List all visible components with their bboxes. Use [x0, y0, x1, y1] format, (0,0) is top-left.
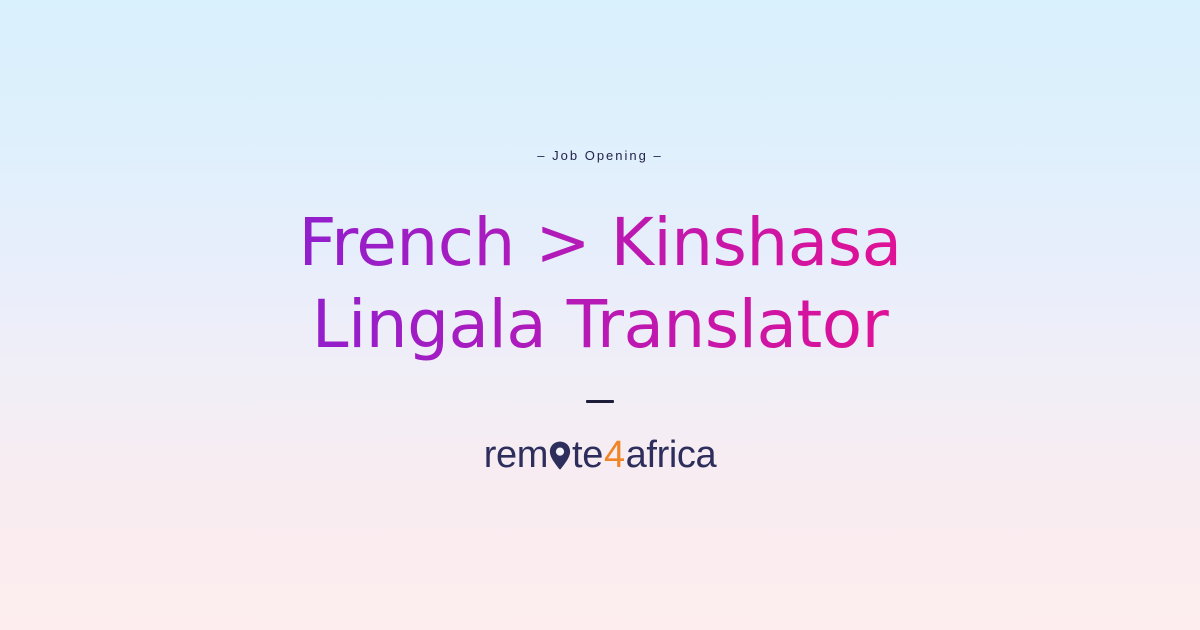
map-pin-icon: [549, 441, 571, 470]
brand-logo[interactable]: rem te 4 africa: [484, 433, 716, 477]
divider-rule: [586, 400, 614, 403]
job-opening-card: – Job Opening – French > Kinshasa Lingal…: [0, 0, 1200, 630]
headline-container: French > Kinshasa Lingala Translator: [250, 202, 950, 366]
page-title: French > Kinshasa Lingala Translator: [250, 202, 950, 366]
logo-text-prefix: rem: [484, 433, 548, 477]
logo-text-middle: te: [572, 433, 603, 477]
logo-text-four: 4: [603, 433, 626, 477]
logo-text-suffix: africa: [626, 433, 717, 477]
eyebrow-label: – Job Opening –: [537, 146, 662, 166]
